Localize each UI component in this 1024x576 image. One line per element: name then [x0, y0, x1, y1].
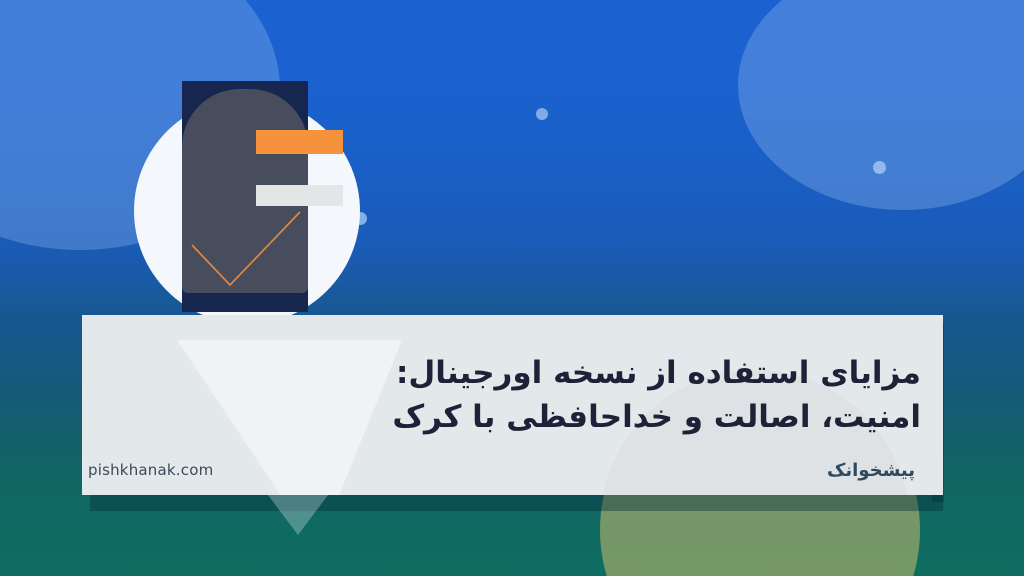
- decorative-circle-top-right: [738, 0, 1024, 210]
- content-card-shadow: [90, 495, 943, 511]
- decorative-dot: [873, 161, 886, 174]
- slide-title: مزایای استفاده از نسخه اورجینال: امنیت، …: [221, 351, 921, 439]
- website-url[interactable]: pishkhanak.com: [88, 461, 213, 479]
- slide-title-line-1: مزایای استفاده از نسخه اورجینال:: [221, 351, 921, 395]
- brand-name: پیشخوانک: [827, 460, 915, 481]
- decorative-dot: [536, 108, 548, 120]
- slide-title-line-2: امنیت، اصالت و خداحافظی با کرک: [221, 395, 921, 439]
- hero-illustration: [130, 70, 370, 320]
- decorative-triangle-lower: [268, 495, 328, 535]
- orange-bar-shape: [256, 130, 343, 154]
- orange-checkmark-icon: [182, 200, 308, 290]
- presentation-slide: مزایای استفاده از نسخه اورجینال: امنیت، …: [0, 0, 1024, 576]
- content-card: مزایای استفاده از نسخه اورجینال: امنیت، …: [82, 315, 943, 495]
